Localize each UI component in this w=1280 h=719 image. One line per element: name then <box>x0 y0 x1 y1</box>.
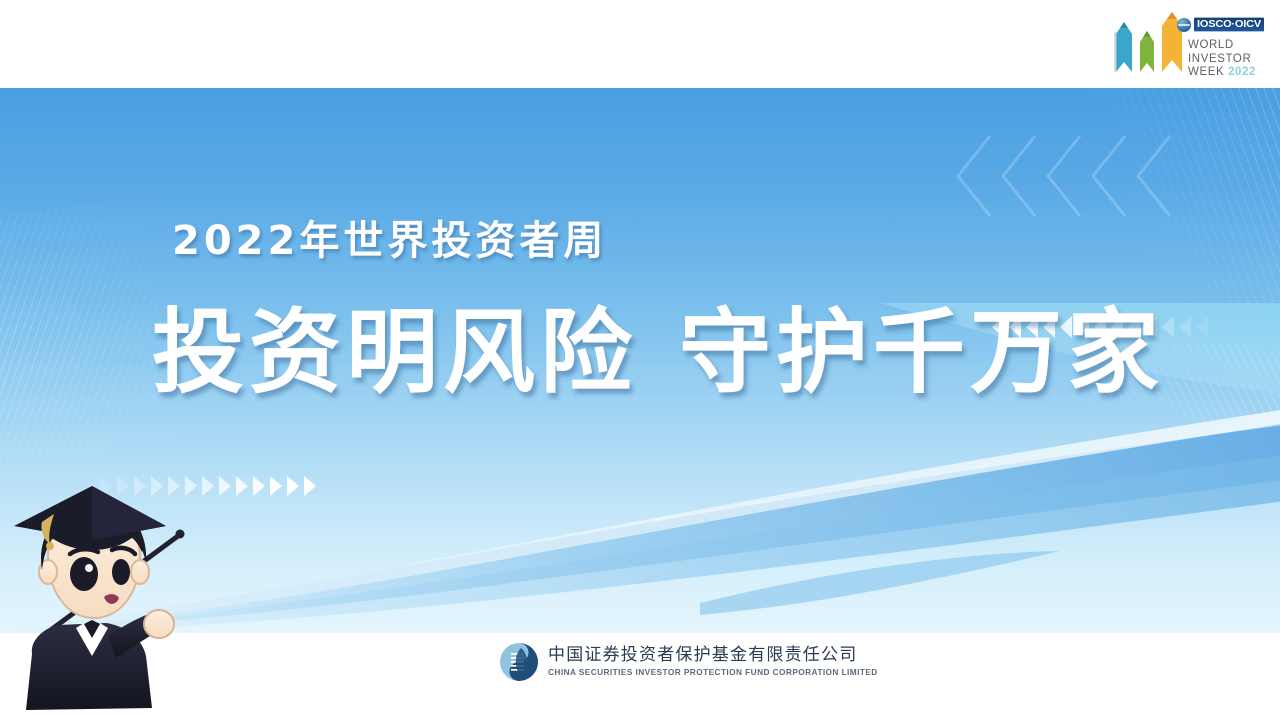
world-investor-week-logo: IOSCO·OICV WORLD INVESTOR WEEK 2022 <box>1100 6 1268 84</box>
wiw-text-block: WORLD INVESTOR WEEK 2022 <box>1188 39 1266 80</box>
wiw-line-week: WEEK 2022 <box>1188 66 1266 80</box>
iosco-logo: IOSCO·OICV <box>1177 16 1264 33</box>
wiw-line-investor: INVESTOR <box>1188 53 1266 67</box>
chevron-right-icon <box>219 476 231 496</box>
chevron-right-icon <box>236 476 248 496</box>
headline-part-2: 守护千万家 <box>679 299 1164 406</box>
mascot-eye-right <box>112 559 130 585</box>
ghost-chevrons-decoration <box>950 106 1210 246</box>
csipf-logo-block: 中国证券投资者保护基金有限责任公司 CHINA SECURITIES INVES… <box>499 642 878 682</box>
csipf-name-english: CHINA SECURITIES INVESTOR PROTECTION FUN… <box>548 668 878 677</box>
banner-stage: 2022年世界投资者周 投资明风险守护千万家 IOSCO·OICV <box>0 0 1280 719</box>
chevron-right-icon <box>304 476 316 496</box>
top-white-bar: IOSCO·OICV WORLD INVESTOR WEEK 2022 <box>0 0 1280 88</box>
chevron-left-icon <box>1196 316 1208 338</box>
chevron-right-icon <box>253 476 265 496</box>
chevron-right-icon <box>270 476 282 496</box>
headline-part-1: 投资明风险 <box>152 299 637 406</box>
mascot-hand <box>144 610 174 638</box>
wiw-week-label: WEEK <box>1188 66 1224 78</box>
chevron-left-icon <box>1179 316 1191 338</box>
banner-subtitle: 2022年世界投资者周 <box>172 208 607 266</box>
csipf-name-chinese: 中国证券投资者保护基金有限责任公司 <box>548 646 878 665</box>
wiw-line-world: WORLD <box>1188 39 1266 53</box>
chevron-right-icon <box>287 476 299 496</box>
mascot-eye-left <box>70 557 98 591</box>
csipf-logo-icon <box>499 642 539 682</box>
iosco-wordmark: IOSCO·OICV <box>1194 18 1264 31</box>
csipf-text-block: 中国证券投资者保护基金有限责任公司 CHINA SECURITIES INVES… <box>548 646 878 677</box>
graduate-teacher-mascot <box>0 478 206 719</box>
wiw-year-label: 2022 <box>1228 66 1256 78</box>
banner-headline: 投资明风险守护千万家 <box>152 278 1164 411</box>
iosco-globe-icon <box>1177 18 1191 32</box>
